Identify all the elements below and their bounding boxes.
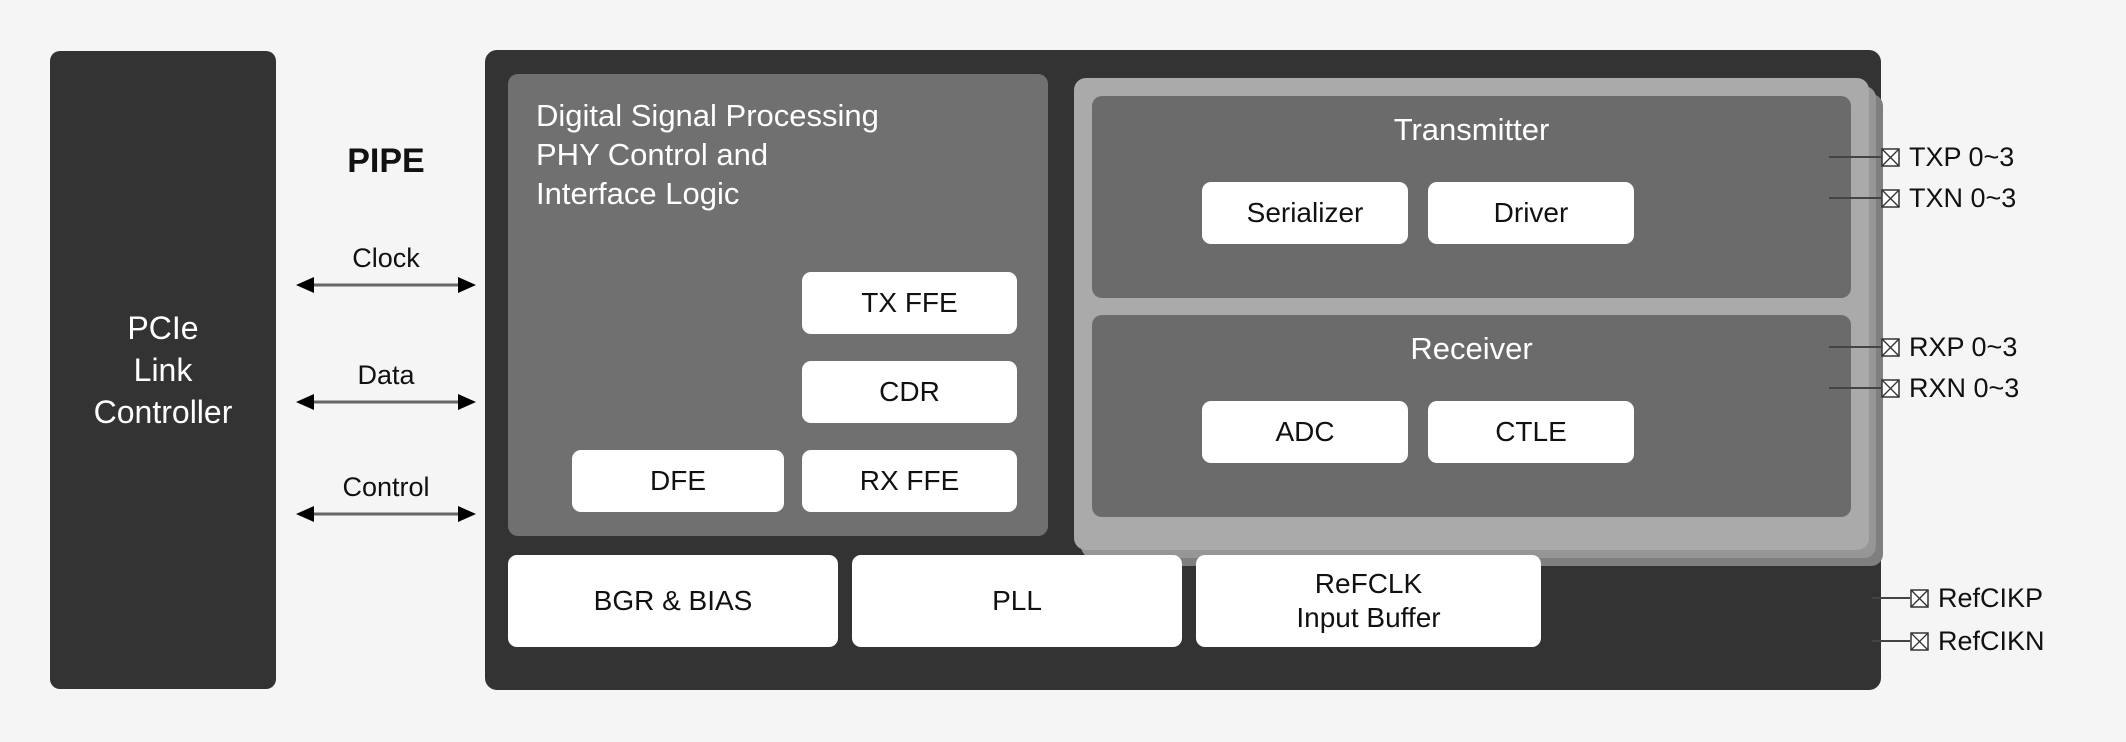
receiver-block-adc: ADC [1202, 401, 1408, 463]
pll-block: PLL [852, 555, 1182, 647]
port-lead-line [1829, 197, 1881, 199]
pipe-title: PIPE [296, 142, 476, 181]
port-txp: TXP 0~3 [1829, 144, 2014, 170]
port-refclkn-label: RefCIKN [1938, 626, 2045, 657]
bidirectional-arrow-icon [296, 276, 476, 294]
pipe-signal-data-label: Data [296, 360, 476, 391]
port-lead-line [1829, 156, 1881, 158]
port-lead-line [1829, 387, 1881, 389]
pipe-signal-clock-label: Clock [296, 243, 476, 274]
diagram-canvas: PCIe Link Controller PIPE Clock Data Con… [0, 0, 2126, 742]
phy-container: Digital Signal Processing PHY Control an… [485, 50, 1881, 690]
port-txn-label: TXN 0~3 [1909, 183, 2016, 214]
transmitter-block-driver: Driver [1428, 182, 1634, 244]
port-rxp: RXP 0~3 [1829, 334, 2017, 360]
crossed-box-pad-icon [1881, 189, 1900, 208]
bidirectional-arrow-icon [296, 505, 476, 523]
port-lead-line [1872, 597, 1910, 599]
pipe-signal-control-label: Control [296, 472, 476, 503]
crossed-box-pad-icon [1881, 148, 1900, 167]
receiver-title: Receiver [1092, 331, 1851, 367]
dsp-block-dfe: DFE [572, 450, 784, 512]
bidirectional-arrow-icon [296, 393, 476, 411]
port-lead-line [1872, 640, 1910, 642]
crossed-box-pad-icon [1881, 379, 1900, 398]
crossed-box-pad-icon [1910, 589, 1929, 608]
port-rxp-label: RXP 0~3 [1909, 332, 2017, 363]
port-refclkn: RefCIKN [1872, 628, 2045, 654]
transmitter-panel: Transmitter Serializer Driver [1092, 96, 1851, 298]
port-txp-label: TXP 0~3 [1909, 142, 2014, 173]
dsp-block-tx-ffe: TX FFE [802, 272, 1017, 334]
port-refclkp: RefCIKP [1872, 585, 2043, 611]
crossed-box-pad-icon [1910, 632, 1929, 651]
receiver-panel: Receiver ADC CTLE [1092, 315, 1851, 517]
refclk-input-buffer-block: ReFCLK Input Buffer [1196, 555, 1541, 647]
port-rxn-label: RXN 0~3 [1909, 373, 2019, 404]
receiver-block-ctle: CTLE [1428, 401, 1634, 463]
dsp-phy-control-block: Digital Signal Processing PHY Control an… [508, 74, 1048, 536]
dsp-block-cdr: CDR [802, 361, 1017, 423]
pipe-signal-data: Data [296, 360, 476, 411]
port-refclkp-label: RefCIKP [1938, 583, 2043, 614]
lane-stack-layer-front: Transmitter Serializer Driver Receiver A… [1074, 78, 1869, 550]
pipe-signal-control: Control [296, 472, 476, 523]
pcie-link-controller-label: PCIe Link Controller [94, 307, 233, 433]
bgr-bias-block: BGR & BIAS [508, 555, 838, 647]
crossed-box-pad-icon [1881, 338, 1900, 357]
dsp-block-title: Digital Signal Processing PHY Control an… [536, 96, 1006, 213]
dsp-block-rx-ffe: RX FFE [802, 450, 1017, 512]
pcie-link-controller-block: PCIe Link Controller [50, 51, 276, 689]
port-rxn: RXN 0~3 [1829, 375, 2019, 401]
port-txn: TXN 0~3 [1829, 185, 2016, 211]
port-lead-line [1829, 346, 1881, 348]
transmitter-title: Transmitter [1092, 112, 1851, 148]
transmitter-block-serializer: Serializer [1202, 182, 1408, 244]
pipe-signal-clock: Clock [296, 243, 476, 294]
